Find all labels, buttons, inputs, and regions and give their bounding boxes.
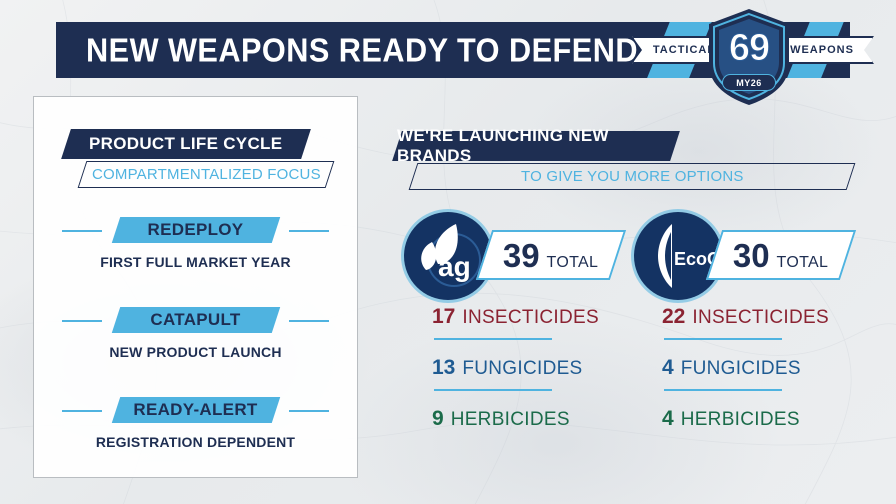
stage-catapult-band: CATAPULT <box>34 307 357 333</box>
brand-ag-header: ag 39 TOTAL <box>398 212 624 306</box>
brand-ecocore-logo: EcoCore <box>634 212 722 300</box>
stat-count: 4 <box>662 357 674 378</box>
brand-ecocore-header: EcoCore 30 TOTAL <box>628 212 854 306</box>
stat-count: 13 <box>432 357 455 378</box>
brand-ag-total-banner: 39 TOTAL <box>476 230 626 280</box>
ribbon-weapons: WEAPONS <box>778 36 874 64</box>
brand-ag-stat-herbicides: 9 HERBICIDES <box>398 408 624 431</box>
product-life-cycle-subtitle: COMPARTMENTALIZED FOCUS <box>92 166 321 183</box>
brand-ag-logo: ag <box>404 212 492 300</box>
stage-rule-right <box>289 320 329 322</box>
stage-redeploy-label: REDEPLOY <box>148 220 244 240</box>
brand-ag-stat-insecticides: 17 INSECTICIDES <box>398 306 624 340</box>
stage-catapult-label: CATAPULT <box>150 310 240 330</box>
stat-count: 9 <box>432 408 444 429</box>
stat-divider <box>434 389 552 391</box>
stat-divider <box>434 338 552 340</box>
stage-redeploy-band: REDEPLOY <box>34 217 357 243</box>
svg-text:ag: ag <box>438 251 471 282</box>
stat-category: HERBICIDES <box>681 409 800 431</box>
badge-number: 69 <box>706 29 792 67</box>
stage-ready-alert-description: REGISTRATION DEPENDENT <box>34 434 357 450</box>
stage-rule-left <box>62 230 102 232</box>
brand-card-ecocore: EcoCore 30 TOTAL 22 INSECTICIDES 4 FUNGI… <box>628 212 854 431</box>
brands-title-banner: WE'RE LAUNCHING NEW BRANDS <box>392 131 680 161</box>
ribbon-weapons-label: WEAPONS <box>790 44 854 56</box>
brands-title: WE'RE LAUNCHING NEW BRANDS <box>397 126 675 166</box>
brand-ecocore-total-banner: 30 TOTAL <box>706 230 856 280</box>
brand-ecocore-stat-insecticides: 22 INSECTICIDES <box>628 306 854 340</box>
stat-divider <box>664 389 782 391</box>
stat-divider <box>664 338 782 340</box>
brands-subtitle: TO GIVE YOU MORE OPTIONS <box>521 168 744 185</box>
product-life-cycle-subtitle-banner: COMPARTMENTALIZED FOCUS <box>78 161 335 188</box>
leaf-ag-icon: ag <box>404 212 492 300</box>
brand-ag-total-number: 39 <box>503 239 540 272</box>
stat-category: INSECTICIDES <box>692 307 829 329</box>
brand-ag-total-label: TOTAL <box>547 254 599 272</box>
brands-subtitle-banner: TO GIVE YOU MORE OPTIONS <box>409 163 856 190</box>
shield-badge: 69 MY26 <box>706 8 792 106</box>
brand-ecocore-stat-herbicides: 4 HERBICIDES <box>628 408 854 431</box>
stat-count: 17 <box>432 306 455 327</box>
brand-ag-stat-fungicides: 13 FUNGICIDES <box>398 357 624 391</box>
stat-count: 22 <box>662 306 685 327</box>
product-life-cycle-title-banner: PRODUCT LIFE CYCLE <box>61 129 311 159</box>
brand-card-ag: ag 39 TOTAL 17 INSECTICIDES 13 FUNGICIDE… <box>398 212 624 431</box>
product-life-cycle-panel: PRODUCT LIFE CYCLE COMPARTMENTALIZED FOC… <box>33 96 358 478</box>
stat-category: FUNGICIDES <box>462 358 582 380</box>
stage-rule-left <box>62 320 102 322</box>
stage-rule-right <box>289 410 329 412</box>
stage-ready-alert: READY-ALERT REGISTRATION DEPENDENT <box>34 397 357 450</box>
ecocore-leaf-icon: EcoCore <box>634 212 722 300</box>
stage-redeploy: REDEPLOY FIRST FULL MARKET YEAR <box>34 217 357 270</box>
stat-category: HERBICIDES <box>451 409 570 431</box>
stage-rule-right <box>289 230 329 232</box>
stage-rule-left <box>62 410 102 412</box>
stat-count: 4 <box>662 408 674 429</box>
product-life-cycle-title: PRODUCT LIFE CYCLE <box>89 134 282 154</box>
stage-catapult: CATAPULT NEW PRODUCT LAUNCH <box>34 307 357 360</box>
badge-year: MY26 <box>722 74 776 91</box>
brand-ecocore-total-label: TOTAL <box>777 254 829 272</box>
stat-category: INSECTICIDES <box>462 307 599 329</box>
brand-ecocore-stat-fungicides: 4 FUNGICIDES <box>628 357 854 391</box>
stat-category: FUNGICIDES <box>681 358 801 380</box>
stage-ready-alert-label: READY-ALERT <box>133 400 257 420</box>
stage-catapult-description: NEW PRODUCT LAUNCH <box>34 344 357 360</box>
stage-redeploy-description: FIRST FULL MARKET YEAR <box>34 254 357 270</box>
stage-ready-alert-band: READY-ALERT <box>34 397 357 423</box>
brand-ecocore-total-number: 30 <box>733 239 770 272</box>
page-title: NEW WEAPONS READY TO DEFEND <box>86 34 638 67</box>
